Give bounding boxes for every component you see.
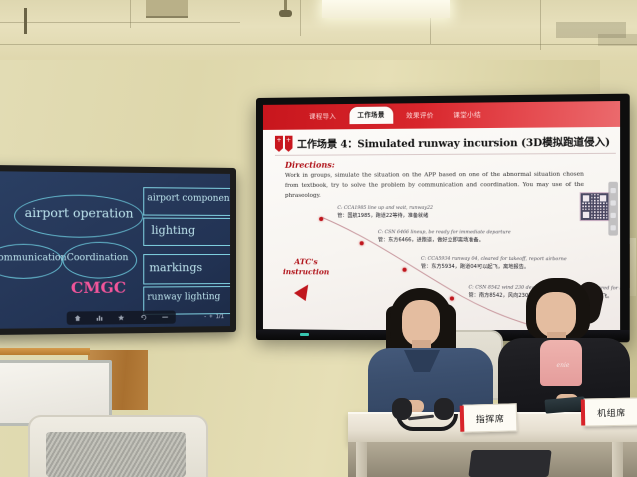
more-icon[interactable] bbox=[161, 314, 168, 321]
tab-class-summary[interactable]: 课堂小结 bbox=[447, 107, 487, 124]
tab-work-scenario[interactable]: 工作场景 bbox=[349, 107, 393, 125]
ceiling-vent bbox=[146, 0, 188, 18]
settings-icon[interactable] bbox=[611, 225, 616, 230]
ink-text-communication: Communication bbox=[0, 253, 67, 263]
ink-text-cmgc: CMGC bbox=[71, 278, 126, 297]
zoom-in-button[interactable]: + bbox=[209, 314, 213, 320]
undo-icon[interactable] bbox=[140, 314, 147, 321]
timeline-dot-2 bbox=[360, 241, 364, 245]
atc-instruction-label: ATC's instruction bbox=[279, 257, 333, 277]
interactive-whiteboard[interactable]: airport operation Communication Coordina… bbox=[0, 165, 236, 335]
slide-tabs[interactable]: 课程导入 工作场景 效果评价 课堂小结 bbox=[303, 106, 487, 125]
qr-code[interactable] bbox=[580, 192, 610, 221]
dialogue-3: C: CCA5934 runway 04, cleared for takeof… bbox=[421, 257, 567, 271]
whiteboard-zoom-controls[interactable]: - + 1/1 bbox=[204, 310, 224, 323]
ink-text-coordination: Coordination bbox=[67, 253, 129, 263]
name-placard-left: 指挥席 bbox=[463, 403, 518, 432]
projector-mount bbox=[284, 0, 287, 12]
timeline-dot-3 bbox=[403, 268, 407, 272]
aviation-headset[interactable] bbox=[392, 396, 454, 426]
screen-power-led bbox=[300, 333, 309, 336]
eraser-icon[interactable] bbox=[611, 212, 616, 217]
tab-course-intro[interactable]: 课程导入 bbox=[303, 108, 342, 124]
chair-mesh bbox=[46, 432, 186, 477]
whiteboard-toolbar[interactable] bbox=[67, 311, 176, 325]
ceiling-light bbox=[322, 0, 450, 18]
dialogue-2: C: CSN 6466 lineup, be ready for immedia… bbox=[378, 230, 511, 243]
timeline-dot-1 bbox=[319, 217, 323, 221]
placard-right-text: 机组席 bbox=[585, 399, 637, 426]
dialogue-2-en: C: CSN 6466 lineup, be ready for immedia… bbox=[378, 230, 511, 235]
dialogue-1: C: CCA1985 line up and wait, runway22 管：… bbox=[337, 206, 433, 219]
zoom-value: 1/1 bbox=[216, 314, 224, 320]
tab-effect-evaluation[interactable]: 效果评价 bbox=[400, 107, 440, 124]
classroom-scene: airport operation Communication Coordina… bbox=[0, 0, 637, 477]
slide-title: 工作场景 4：Simulated runway incursion (3D模拟跑… bbox=[297, 133, 612, 151]
ink-text-markings: markings bbox=[149, 261, 202, 274]
whiteboard-rail bbox=[0, 348, 90, 355]
arrow-icon bbox=[294, 281, 314, 301]
home-icon[interactable] bbox=[74, 314, 81, 321]
dialogue-1-cn: 管：国航1985，跑道22等待，准备就绪 bbox=[337, 212, 433, 219]
desk-leg bbox=[356, 442, 367, 477]
dialogue-1-en: C: CCA1985 line up and wait, runway22 bbox=[337, 206, 433, 211]
ink-text-airport-components: airport components bbox=[147, 193, 230, 204]
chart-icon[interactable] bbox=[96, 314, 103, 321]
directions-body: Work in groups, simulate the situation o… bbox=[285, 171, 584, 202]
tee-text: enie bbox=[544, 362, 582, 369]
pen-icon[interactable] bbox=[611, 200, 616, 205]
dialogue-3-en: C: CCA5934 runway 04, cleared for takeof… bbox=[421, 257, 567, 263]
ink-text-runway-lighting: runway lighting bbox=[147, 292, 220, 303]
placard-left-text: 指挥席 bbox=[464, 404, 517, 431]
ceiling bbox=[0, 0, 637, 66]
name-placard-right: 机组席 bbox=[584, 398, 637, 427]
dialogue-2-cn: 管：东方6466，进跑道，做好立即离场准备。 bbox=[378, 236, 511, 243]
title-divider bbox=[275, 153, 616, 156]
directions-heading: Directions: bbox=[285, 160, 335, 170]
desk-leg bbox=[612, 442, 623, 477]
ink-text-lighting: lighting bbox=[151, 224, 195, 237]
star-icon[interactable] bbox=[118, 314, 125, 321]
brand-logo-icon bbox=[275, 136, 293, 152]
bag-under-desk bbox=[468, 450, 551, 477]
menu-icon[interactable] bbox=[611, 187, 616, 192]
dialogue-3-cn: 管：东方5934，跑道04可以起飞，离地报告。 bbox=[421, 263, 567, 271]
whiteboard-canvas[interactable]: airport operation Communication Coordina… bbox=[0, 171, 230, 329]
ink-text-airport-operation: airport operation bbox=[25, 206, 134, 221]
zoom-out-button[interactable]: - bbox=[204, 314, 206, 320]
screen-side-toolbar[interactable] bbox=[608, 182, 618, 236]
